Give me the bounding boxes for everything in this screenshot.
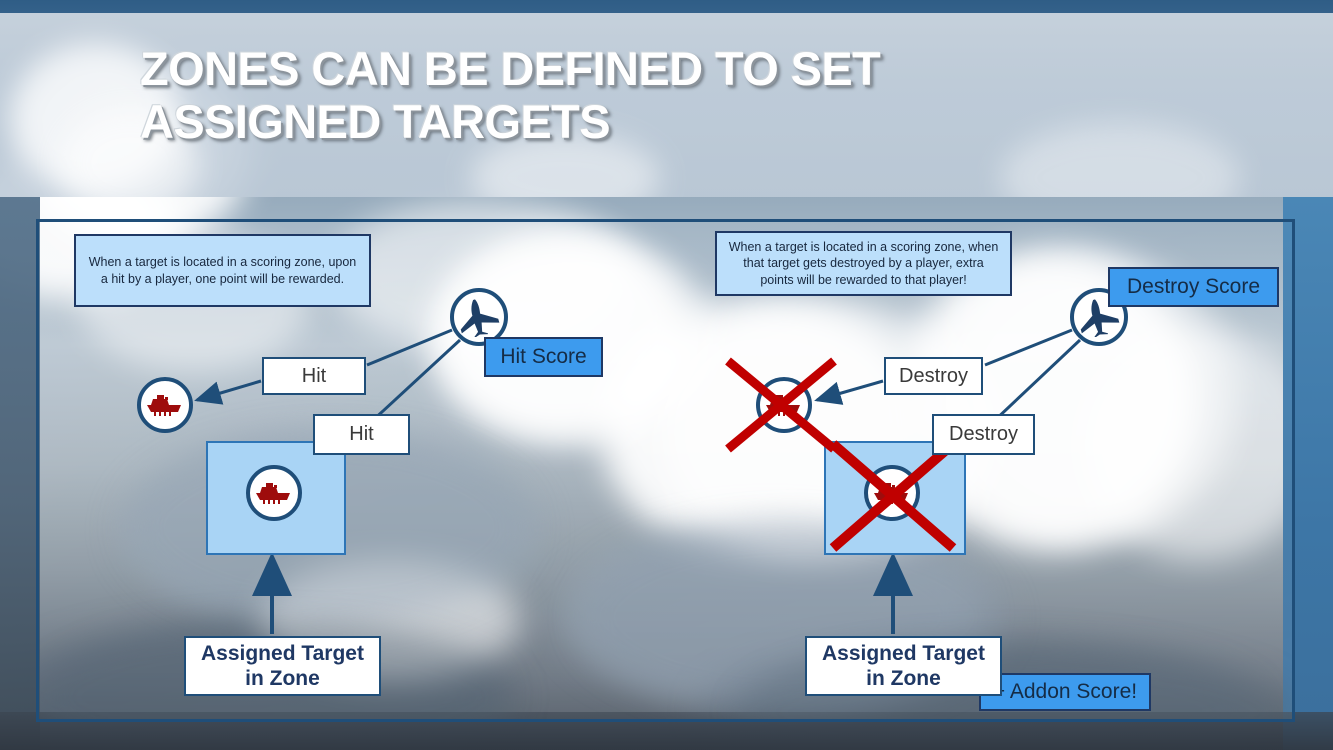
warship-unit-right-outside[interactable] — [756, 377, 812, 433]
warship-icon — [872, 481, 912, 505]
label-assigned-target-right[interactable]: Assigned Target in Zone — [805, 636, 1002, 696]
warship-unit-left-outside[interactable] — [137, 377, 193, 433]
warship-icon — [254, 481, 294, 505]
warship-icon — [145, 393, 185, 417]
chip-hit-score[interactable]: Hit Score — [484, 337, 603, 377]
fighter-jet-icon — [456, 297, 502, 337]
warship-unit-left-in-zone[interactable] — [246, 465, 302, 521]
slide-canvas: ZONES CAN BE DEFINED TO SET ASSIGNED TAR… — [0, 0, 1333, 750]
label-hit-2[interactable]: Hit — [313, 414, 410, 455]
chip-addon-score[interactable]: + Addon Score! — [979, 673, 1151, 711]
wire-plane-to-hit2 — [370, 340, 460, 423]
label-assigned-target-left[interactable]: Assigned Target in Zone — [184, 636, 381, 696]
warship-icon — [764, 393, 804, 417]
chip-destroy-score[interactable]: Destroy Score — [1108, 267, 1279, 307]
wire-plane-to-destroy2 — [992, 340, 1080, 423]
warship-unit-right-in-zone[interactable] — [864, 465, 920, 521]
label-destroy-1[interactable]: Destroy — [884, 357, 983, 395]
arrow-hit1-to-target — [197, 381, 261, 400]
arrow-destroy1-to-target — [817, 381, 883, 400]
note-hit-scoring: When a target is located in a scoring zo… — [74, 234, 371, 307]
label-destroy-2[interactable]: Destroy — [932, 414, 1035, 455]
label-hit-1[interactable]: Hit — [262, 357, 366, 395]
note-destroy-scoring: When a target is located in a scoring zo… — [715, 231, 1012, 296]
